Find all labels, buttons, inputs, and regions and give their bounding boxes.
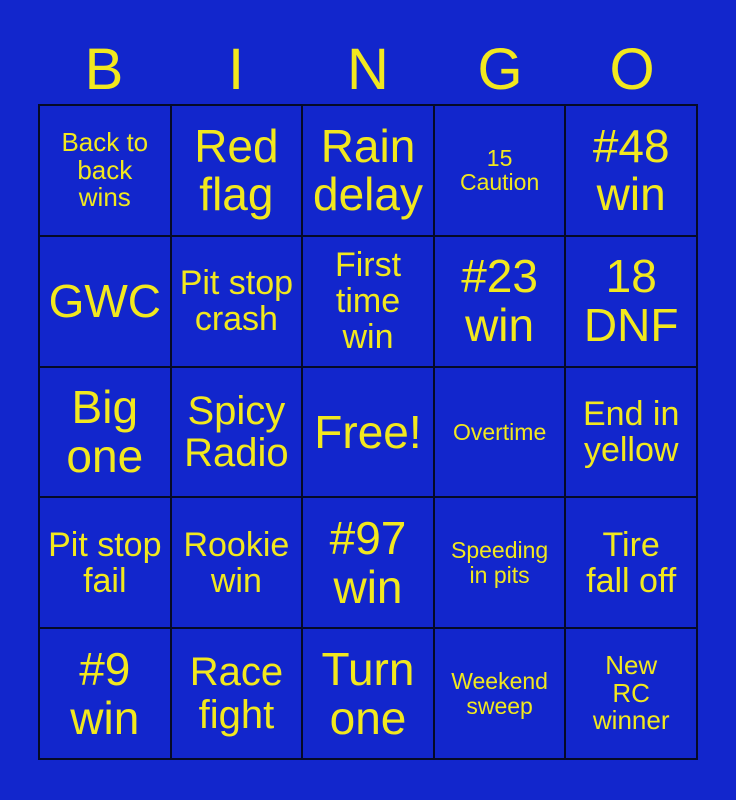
bingo-cell[interactable]: Pit stop fail: [40, 498, 172, 629]
bingo-header: B I N G O: [38, 36, 698, 104]
bingo-cell-label: 18 DNF: [570, 252, 692, 350]
bingo-cell-label: Turn one: [307, 645, 429, 743]
bingo-cell-label: #23 win: [439, 252, 561, 350]
bingo-cell[interactable]: Turn one: [303, 629, 435, 760]
bingo-cell-label: 15 Caution: [439, 146, 561, 195]
bingo-cell[interactable]: Red flag: [172, 106, 304, 237]
bingo-cell[interactable]: Big one: [40, 368, 172, 499]
bingo-cell[interactable]: #97 win: [303, 498, 435, 629]
bingo-cell[interactable]: #9 win: [40, 629, 172, 760]
bingo-cell-label: End in yellow: [570, 396, 692, 468]
bingo-cell-label: New RC winner: [570, 652, 692, 735]
bingo-cell-label: Tire fall off: [570, 527, 692, 599]
bingo-cell-label: Spicy Radio: [176, 390, 298, 475]
bingo-cell[interactable]: New RC winner: [566, 629, 698, 760]
bingo-cell-label: Race fight: [176, 651, 298, 736]
bingo-cell-label: Pit stop crash: [176, 265, 298, 337]
bingo-cell[interactable]: Back to back wins: [40, 106, 172, 237]
header-letter-n: N: [302, 41, 434, 99]
bingo-cell[interactable]: 15 Caution: [435, 106, 567, 237]
bingo-cell[interactable]: #23 win: [435, 237, 567, 368]
bingo-cell[interactable]: Weekend sweep: [435, 629, 567, 760]
bingo-cell[interactable]: Tire fall off: [566, 498, 698, 629]
bingo-cell[interactable]: Pit stop crash: [172, 237, 304, 368]
bingo-grid: Back to back winsRed flagRain delay15 Ca…: [38, 104, 698, 760]
bingo-cell-label: Speeding in pits: [439, 538, 561, 587]
bingo-cell[interactable]: Spicy Radio: [172, 368, 304, 499]
bingo-cell[interactable]: Rain delay: [303, 106, 435, 237]
header-letter-g: G: [434, 41, 566, 99]
bingo-cell[interactable]: Speeding in pits: [435, 498, 567, 629]
bingo-cell-label: Rain delay: [307, 122, 429, 220]
bingo-cell-label: Pit stop fail: [44, 527, 166, 599]
bingo-cell[interactable]: 18 DNF: [566, 237, 698, 368]
bingo-cell-label: Weekend sweep: [439, 669, 561, 718]
bingo-cell-label: Overtime: [439, 420, 561, 444]
bingo-cell[interactable]: Overtime: [435, 368, 567, 499]
bingo-cell[interactable]: GWC: [40, 237, 172, 368]
bingo-cell[interactable]: Race fight: [172, 629, 304, 760]
bingo-card: B I N G O Back to back winsRed flagRain …: [0, 0, 736, 800]
bingo-cell[interactable]: End in yellow: [566, 368, 698, 499]
bingo-cell-label: Big one: [44, 383, 166, 481]
bingo-cell-label: Rookie win: [176, 527, 298, 599]
bingo-cell-label: Free!: [307, 408, 429, 457]
bingo-cell-label: #48 win: [570, 122, 692, 220]
bingo-cell-label: Red flag: [176, 122, 298, 220]
header-letter-o: O: [566, 41, 698, 99]
bingo-cell-label: GWC: [44, 277, 166, 326]
header-letter-i: I: [170, 41, 302, 99]
bingo-cell[interactable]: Rookie win: [172, 498, 304, 629]
bingo-cell-label: First time win: [307, 247, 429, 355]
bingo-cell-label: #9 win: [44, 645, 166, 743]
bingo-cell-label: #97 win: [307, 514, 429, 612]
header-letter-b: B: [38, 41, 170, 99]
bingo-cell[interactable]: #48 win: [566, 106, 698, 237]
bingo-cell[interactable]: Free!: [303, 368, 435, 499]
bingo-cell-label: Back to back wins: [44, 129, 166, 212]
bingo-cell[interactable]: First time win: [303, 237, 435, 368]
